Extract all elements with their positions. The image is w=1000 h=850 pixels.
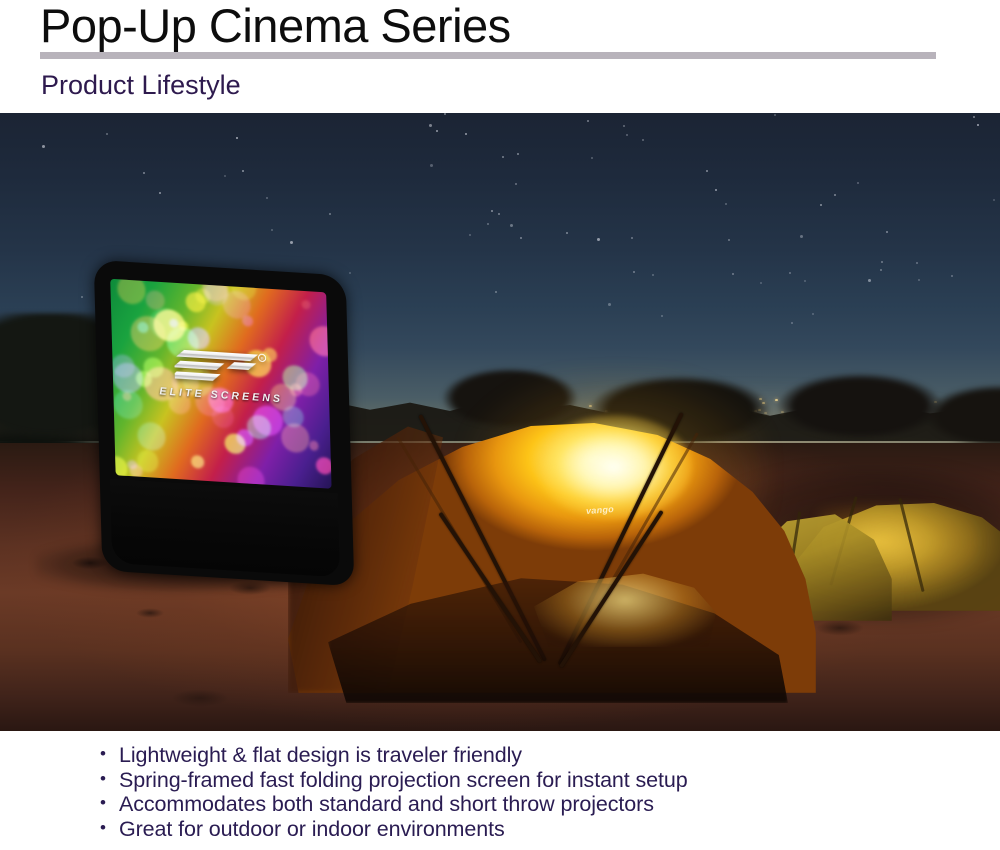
bokeh-circle — [127, 460, 137, 470]
bokeh-circle — [117, 279, 146, 305]
star — [623, 125, 625, 127]
bokeh-circle — [309, 441, 318, 451]
tent-interior-lamp — [536, 415, 692, 519]
star — [725, 203, 727, 205]
screen-projection-surface: R ELITE SCREENS — [110, 279, 331, 489]
feature-bullet-item: Lightweight & flat design is traveler fr… — [100, 743, 688, 768]
glowing-tent: vango — [288, 393, 816, 731]
feature-bullet-item: Accommodates both standard and short thr… — [100, 792, 688, 817]
star — [106, 133, 108, 135]
bokeh-circle — [137, 321, 148, 333]
page-header: Pop-Up Cinema Series Product Lifestyle — [0, 0, 1000, 113]
star — [881, 261, 883, 263]
star — [143, 172, 145, 174]
star — [502, 156, 504, 158]
star — [774, 114, 776, 116]
bokeh-circle — [137, 422, 166, 452]
star — [349, 272, 351, 274]
star — [728, 239, 730, 241]
tent-brand-logo: vango — [586, 504, 615, 516]
page-subtitle: Product Lifestyle — [41, 68, 241, 102]
star — [81, 296, 83, 298]
bokeh-circle — [191, 455, 204, 468]
star — [652, 274, 654, 276]
star — [566, 232, 568, 234]
feature-bullet-list: Lightweight & flat design is traveler fr… — [100, 743, 688, 841]
star — [633, 271, 635, 273]
page-title: Pop-Up Cinema Series — [40, 0, 511, 54]
bokeh-circle — [111, 354, 135, 378]
star — [491, 210, 493, 212]
feature-bullet-item: Spring-framed fast folding projection sc… — [100, 768, 688, 793]
star — [430, 164, 433, 167]
star — [515, 183, 517, 185]
product-lifestyle-photo: vango — [0, 113, 1000, 731]
elite-screens-logo: R ELITE SCREENS — [145, 346, 296, 407]
feature-bullet-item: Great for outdoor or indoor environments — [100, 817, 688, 842]
star — [804, 280, 806, 282]
popup-projection-screen: R ELITE SCREENS — [94, 260, 355, 587]
es-monogram-icon: R — [174, 347, 267, 389]
star — [631, 237, 633, 239]
star — [886, 231, 888, 233]
screen-lower-skirt — [110, 479, 340, 578]
bokeh-circle — [315, 457, 331, 475]
star — [661, 315, 663, 317]
star — [224, 175, 226, 177]
bokeh-circle — [281, 423, 310, 453]
star — [706, 170, 708, 172]
star — [791, 322, 793, 324]
star — [642, 139, 644, 141]
star — [510, 224, 513, 227]
star — [820, 204, 822, 206]
bokeh-circle — [301, 300, 310, 310]
star — [159, 192, 161, 194]
star — [868, 279, 871, 282]
star — [517, 153, 519, 155]
title-divider-rule — [40, 52, 936, 59]
star — [591, 157, 593, 159]
feature-bullets-section: Lightweight & flat design is traveler fr… — [0, 731, 1000, 850]
